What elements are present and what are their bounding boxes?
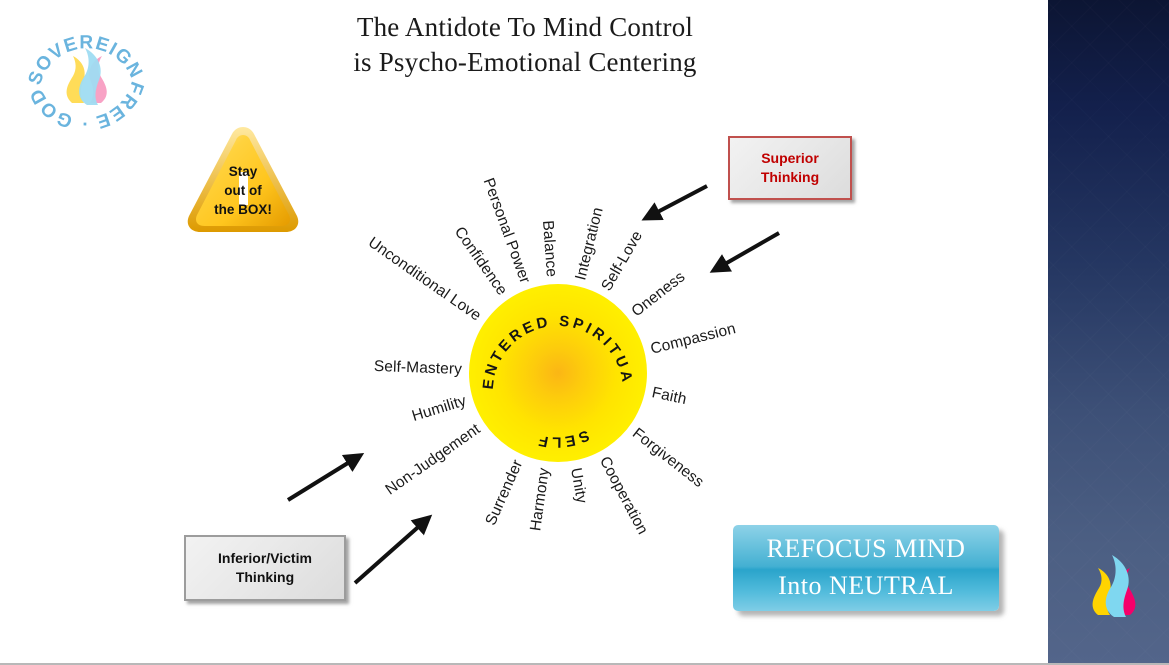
ray-label-cooperation: Cooperation xyxy=(595,454,651,538)
ray-label-non-judgement: Non-Judgement xyxy=(383,421,485,500)
refocus-mind-button[interactable]: REFOCUS MIND Into NEUTRAL xyxy=(733,525,999,611)
inferior-line-2: Thinking xyxy=(218,568,312,587)
panel-flame-icon xyxy=(1084,547,1142,617)
refocus-line-2: Into NEUTRAL xyxy=(778,568,954,605)
centered-spiritual-self-sun xyxy=(469,284,647,462)
refocus-line-1: REFOCUS MIND xyxy=(767,531,966,568)
inferior-arrow-lower xyxy=(355,521,425,583)
warning-triangle-label: Stay out of the BOX! xyxy=(184,162,302,219)
ray-label-integration: Integration xyxy=(572,206,607,283)
page-title-line-1: The Antidote To Mind Control xyxy=(215,10,835,45)
brand-logo: SOVEREIGN · FREE · GOD · xyxy=(18,10,154,138)
inferior-line-1: Inferior/Victim xyxy=(218,549,312,568)
ray-label-oneness: Oneness xyxy=(628,268,689,321)
ray-label-humility: Humility xyxy=(410,392,469,426)
ray-label-self-mastery: Self-Mastery xyxy=(374,358,463,379)
logo-flame-icon xyxy=(67,48,107,105)
ray-label-balance: Balance xyxy=(538,220,560,278)
ray-label-harmony: Harmony xyxy=(527,467,554,532)
ray-label-compassion: Compassion xyxy=(649,320,738,359)
superior-line-2: Thinking xyxy=(761,168,819,187)
superior-line-1: Superior xyxy=(761,149,819,168)
warning-line-3: the BOX! xyxy=(184,200,302,219)
ray-label-forgiveness: Forgiveness xyxy=(628,425,706,492)
page-title: The Antidote To Mind Control is Psycho-E… xyxy=(215,10,835,80)
page-title-line-2: is Psycho-Emotional Centering xyxy=(215,45,835,80)
brand-logo-svg: SOVEREIGN · FREE · GOD · xyxy=(18,10,154,138)
slide-canvas: SOVEREIGN · FREE · GOD · The Antidote To… xyxy=(0,0,1169,665)
inferior-victim-thinking-box[interactable]: Inferior/Victim Thinking xyxy=(184,535,346,601)
ray-label-faith: Faith xyxy=(650,384,688,409)
ray-label-self-love: Self-Love xyxy=(598,228,647,294)
ray-label-surrender: Surrender xyxy=(482,457,527,528)
right-decorative-panel xyxy=(1048,0,1169,665)
superior-arrow-lower xyxy=(718,233,779,268)
ray-label-unity: Unity xyxy=(566,466,590,504)
inferior-arrow-upper xyxy=(288,458,356,500)
stay-out-of-the-box-sign[interactable]: Stay out of the BOX! xyxy=(184,124,302,236)
inferior-thinking-label: Inferior/Victim Thinking xyxy=(218,549,312,587)
superior-thinking-label: Superior Thinking xyxy=(761,149,819,187)
superior-thinking-box[interactable]: Superior Thinking xyxy=(728,136,852,200)
warning-line-1: Stay xyxy=(184,162,302,181)
superior-arrow-upper xyxy=(650,186,707,216)
warning-line-2: out of xyxy=(184,181,302,200)
